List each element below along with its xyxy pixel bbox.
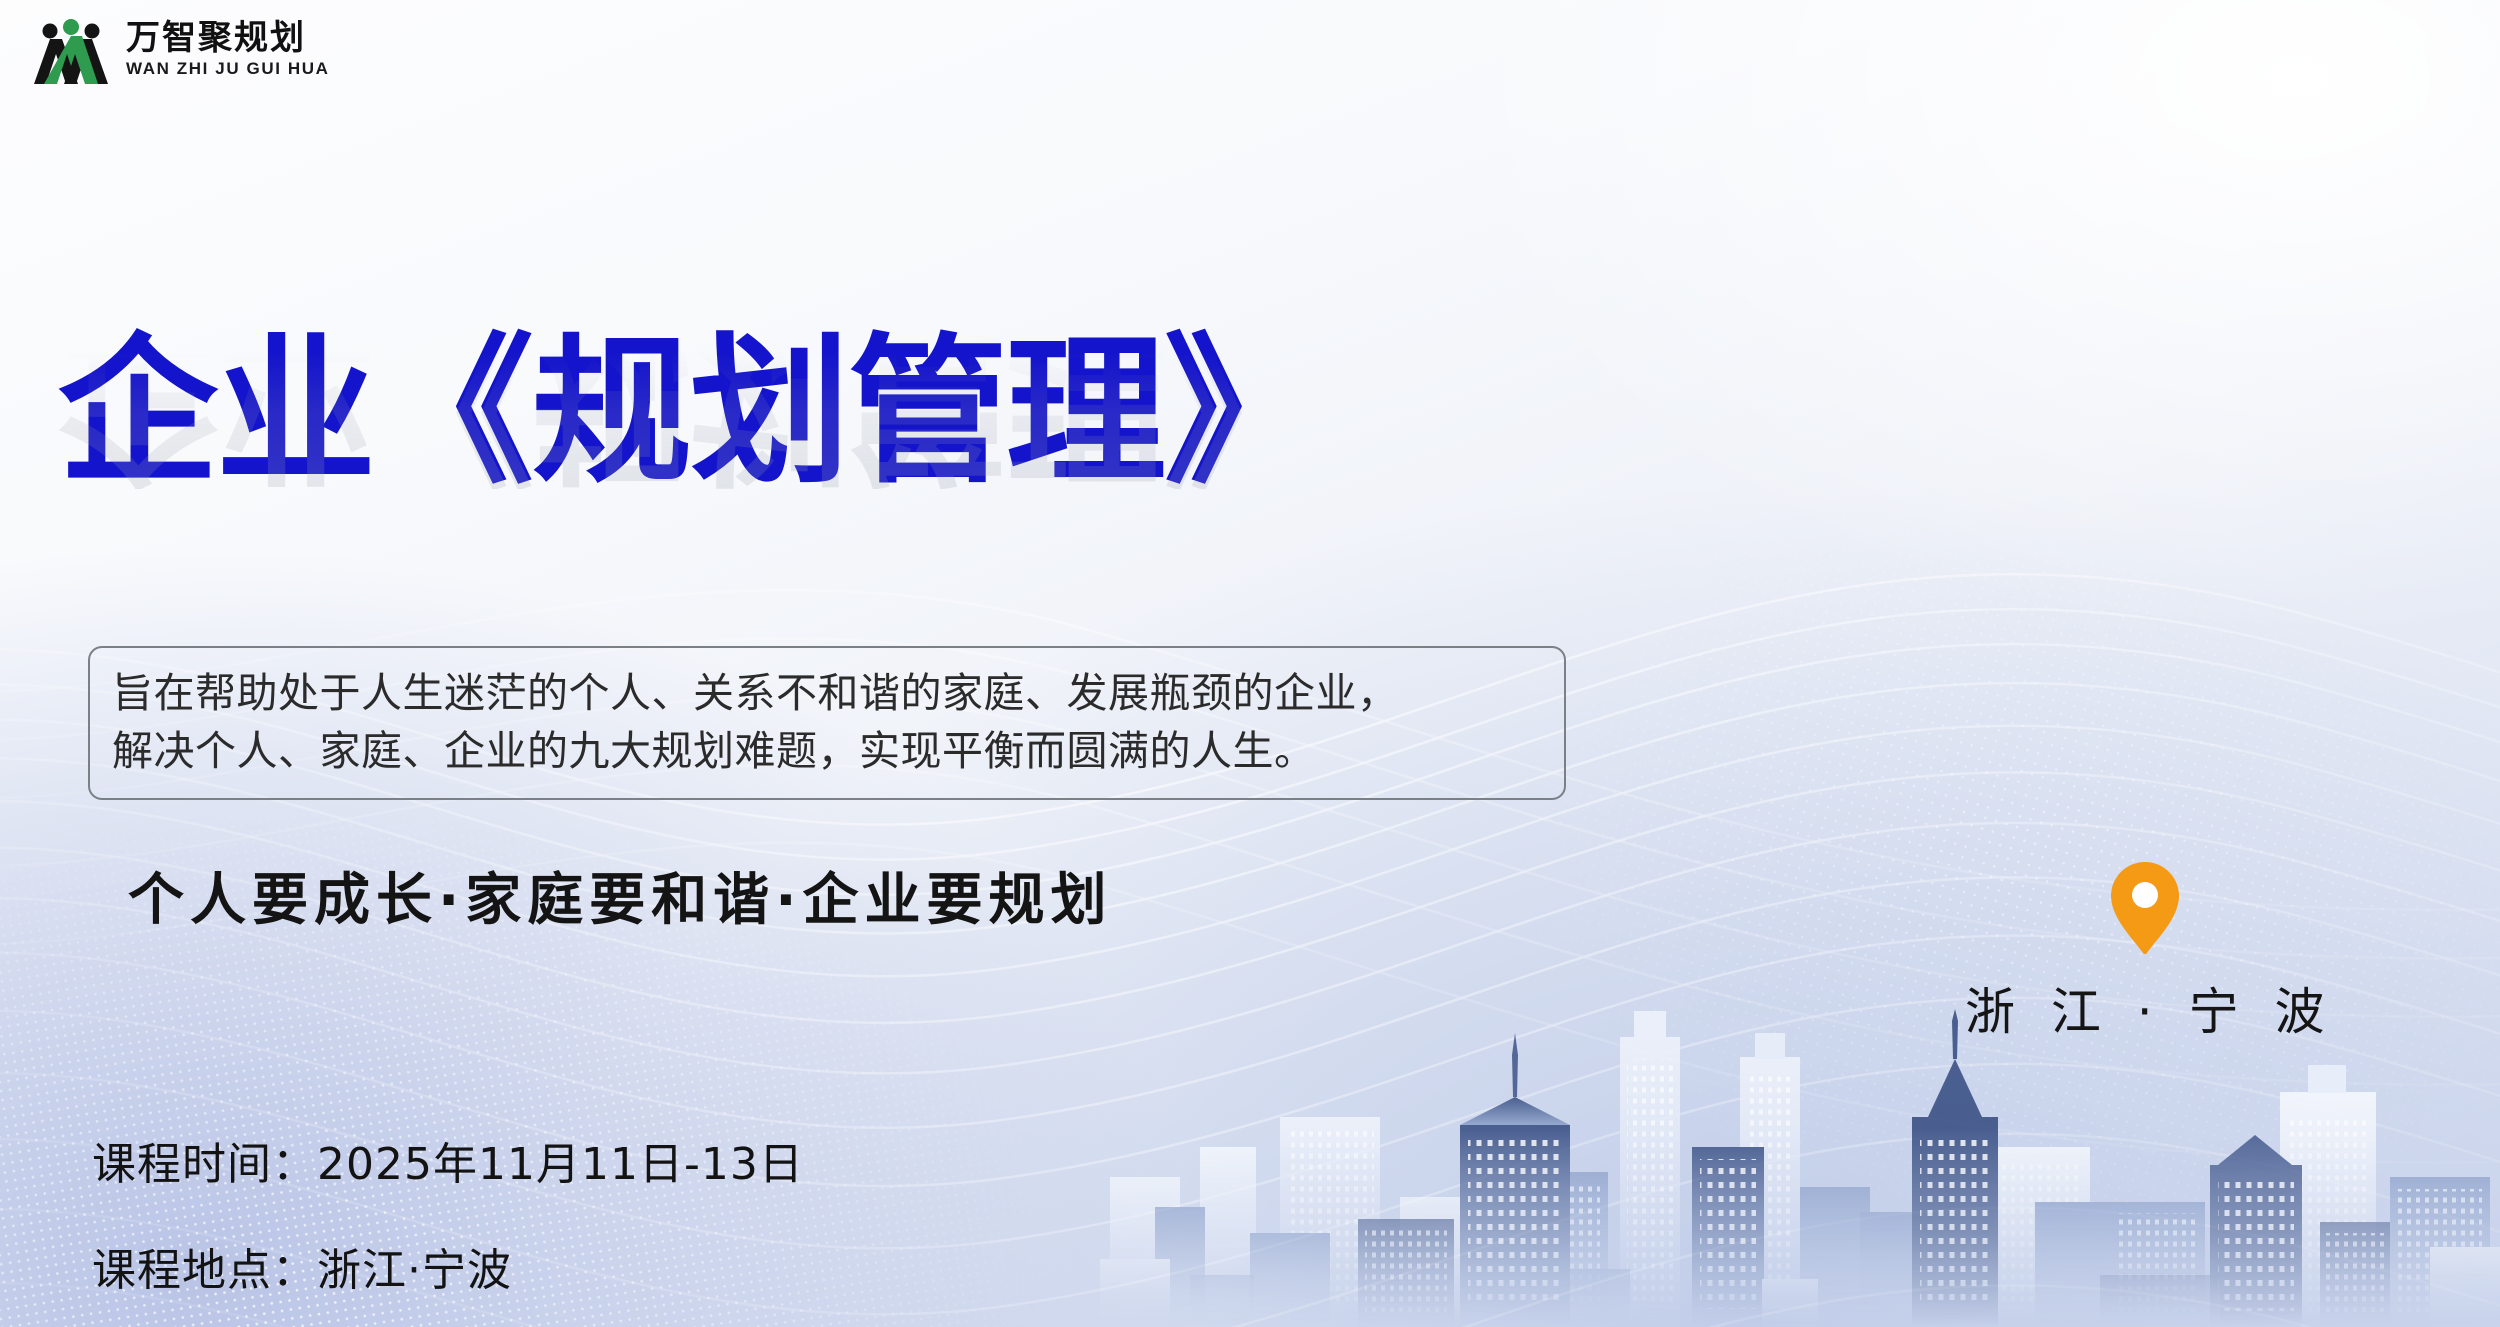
page-title: 企业《规划管理》 xyxy=(58,330,1322,495)
poster-canvas: 万智聚规划 WAN ZHI JU GUI HUA 企业《规划管理》 企业《规划管… xyxy=(0,0,2500,1327)
location-badge: 浙 江 · 宁 波 xyxy=(1955,860,2334,1044)
description-line-2: 解决个人、家庭、企业的九大规划难题，实现平衡而圆满的人生。 xyxy=(112,722,1544,780)
brand-logo: 万智聚规划 WAN ZHI JU GUI HUA xyxy=(32,14,330,86)
brand-text: 万智聚规划 WAN ZHI JU GUI HUA xyxy=(126,21,330,79)
city-skyline-silhouette xyxy=(1100,997,2500,1327)
map-pin-icon xyxy=(2107,860,2183,956)
course-time-row: 课程时间：2025年11月11日-13日 xyxy=(92,1128,804,1192)
brand-name-cn: 万智聚规划 xyxy=(126,21,330,57)
dot-mesh-pattern-secondary xyxy=(1271,380,2500,1327)
description-box: 旨在帮助处于人生迷茫的个人、关系不和谐的家庭、发展瓶颈的企业， 解决个人、家庭、… xyxy=(88,646,1566,800)
course-meta: 课程时间：2025年11月11日-13日 课程地点：浙江·宁波 xyxy=(92,1128,804,1298)
hero-title-block: 企业《规划管理》 企业《规划管理》 xyxy=(58,330,1322,654)
course-place-row: 课程地点：浙江·宁波 xyxy=(92,1234,804,1298)
location-label: 浙 江 · 宁 波 xyxy=(1955,972,2334,1044)
three-people-mountain-logo-icon xyxy=(32,14,110,86)
description-line-1: 旨在帮助处于人生迷茫的个人、关系不和谐的家庭、发展瓶颈的企业， xyxy=(112,664,1544,722)
tagline: 个人要成长·家庭要和谐·企业要规划 xyxy=(128,855,1113,936)
brand-name-en: WAN ZHI JU GUI HUA xyxy=(126,59,330,79)
